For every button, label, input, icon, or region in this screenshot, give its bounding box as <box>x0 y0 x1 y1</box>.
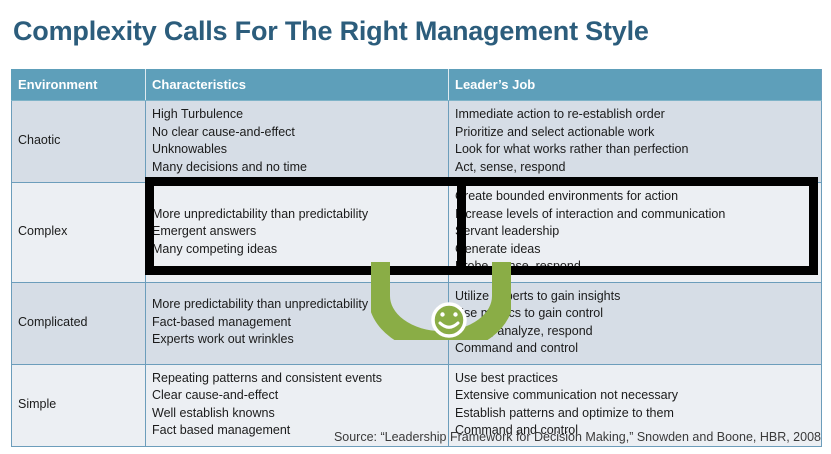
list-item: Extensive communication not necessary <box>455 387 821 405</box>
table-row: ChaoticHigh TurbulenceNo clear cause-and… <box>12 101 822 183</box>
list-item: Emergent answers <box>152 223 448 241</box>
list-item: Well establish knowns <box>152 405 448 423</box>
list-item: Create bounded environments for action <box>455 188 821 206</box>
column-header-leaders-job: Leader’s Job <box>449 69 822 101</box>
cell-environment: Chaotic <box>12 101 146 183</box>
table-row: ComplicatedMore predictability than unpr… <box>12 282 822 364</box>
cell-characteristics: More unpredictability than predictabilit… <box>146 183 449 283</box>
environment-label: Chaotic <box>18 133 60 147</box>
cell-leaders-job-list: Immediate action to re-establish orderPr… <box>455 106 821 176</box>
table-header-row: Environment Characteristics Leader’s Job <box>12 69 822 101</box>
list-item: More unpredictability than predictabilit… <box>152 206 448 224</box>
list-item: Many competing ideas <box>152 241 448 259</box>
list-item: More predictability than unpredictabilit… <box>152 296 448 314</box>
cell-characteristics: High TurbulenceNo clear cause-and-effect… <box>146 101 449 183</box>
cell-characteristics-list: Repeating patterns and consistent events… <box>152 370 448 440</box>
list-item: Sense, analyze, respond <box>455 323 821 341</box>
cell-characteristics-list: More predictability than unpredictabilit… <box>152 296 448 349</box>
cell-characteristics-list: More unpredictability than predictabilit… <box>152 206 448 259</box>
cell-leaders-job-list: Utilize experts to gain insightsUse metr… <box>455 288 821 358</box>
list-item: Use best practices <box>455 370 821 388</box>
environment-label: Simple <box>18 397 56 411</box>
management-style-matrix: Environment Characteristics Leader’s Job… <box>11 69 822 447</box>
table-row: ComplexMore unpredictability than predic… <box>12 183 822 283</box>
list-item: High Turbulence <box>152 106 448 124</box>
list-item: Increase levels of interaction and commu… <box>455 206 821 224</box>
list-item: Act, sense, respond <box>455 159 821 177</box>
list-item: Fact-based management <box>152 314 448 332</box>
list-item: Repeating patterns and consistent events <box>152 370 448 388</box>
list-item: Servant leadership <box>455 223 821 241</box>
list-item: No clear cause-and-effect <box>152 124 448 142</box>
table-header: Environment Characteristics Leader’s Job <box>12 69 822 101</box>
list-item: Unknowables <box>152 141 448 159</box>
cell-leaders-job: Immediate action to re-establish orderPr… <box>449 101 822 183</box>
list-item: Command and control <box>455 340 821 358</box>
cell-characteristics: More predictability than unpredictabilit… <box>146 282 449 364</box>
slide-canvas: Complexity Calls For The Right Managemen… <box>0 0 831 454</box>
list-item: Probe, sense, respond <box>455 258 821 276</box>
cell-characteristics-list: High TurbulenceNo clear cause-and-effect… <box>152 106 448 176</box>
column-header-characteristics: Characteristics <box>146 69 449 101</box>
list-item: Use metrics to gain control <box>455 305 821 323</box>
cell-environment: Complicated <box>12 282 146 364</box>
list-item: Prioritize and select actionable work <box>455 124 821 142</box>
list-item: Generate ideas <box>455 241 821 259</box>
column-header-environment: Environment <box>12 69 146 101</box>
page-title: Complexity Calls For The Right Managemen… <box>13 14 649 48</box>
list-item: Immediate action to re-establish order <box>455 106 821 124</box>
cell-leaders-job: Create bounded environments for actionIn… <box>449 183 822 283</box>
environment-label: Complicated <box>18 315 87 329</box>
cell-environment: Complex <box>12 183 146 283</box>
source-citation: Source: “Leadership Framework for Decisi… <box>0 430 821 444</box>
list-item: Many decisions and no time <box>152 159 448 177</box>
cell-leaders-job: Utilize experts to gain insightsUse metr… <box>449 282 822 364</box>
list-item: Look for what works rather than perfecti… <box>455 141 821 159</box>
environment-label: Complex <box>18 224 67 238</box>
cell-leaders-job-list: Create bounded environments for actionIn… <box>455 188 821 276</box>
list-item: Experts work out wrinkles <box>152 331 448 349</box>
list-item: Clear cause-and-effect <box>152 387 448 405</box>
list-item: Utilize experts to gain insights <box>455 288 821 306</box>
list-item: Establish patterns and optimize to them <box>455 405 821 423</box>
table-body: ChaoticHigh TurbulenceNo clear cause-and… <box>12 101 822 447</box>
cell-leaders-job-list: Use best practicesExtensive communicatio… <box>455 370 821 440</box>
